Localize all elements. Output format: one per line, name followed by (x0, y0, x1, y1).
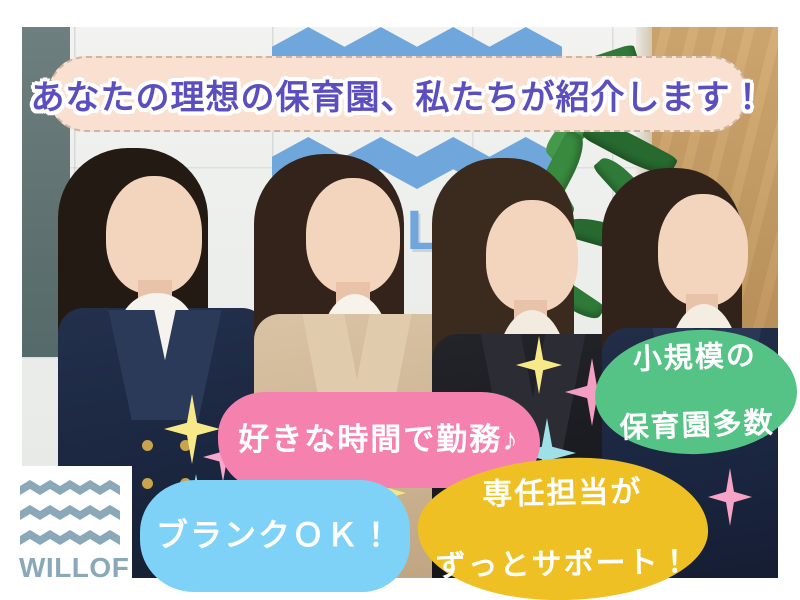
feature-bubble-small-nurseries-text: 小規模の保育園多数 (617, 338, 776, 446)
advertisement-banner: WILL (0, 0, 800, 600)
headline-text: あなたの理想の保育園、私たちが紹介します！ (31, 70, 766, 119)
brand-logo-card: WILLOF (8, 466, 132, 592)
feature-bubble-dedicated-support: 専任担当がずっとサポート！ (417, 455, 709, 600)
feature-bubble-flexible-hours-text: 好きな時間で勤務♪ (238, 422, 520, 459)
brand-wordmark: WILLOF (19, 552, 129, 584)
feature-bubble-career-gap-ok-text: ブランクＯＫ！ (156, 517, 394, 555)
headline-banner: あなたの理想の保育園、私たちが紹介します！ (48, 56, 748, 132)
willof-zigzag-icon (20, 480, 120, 546)
feature-bubble-career-gap-ok: ブランクＯＫ！ (140, 480, 410, 592)
feature-bubble-small-nurseries: 小規模の保育園多数 (593, 327, 799, 458)
feature-bubble-dedicated-support-text: 専任担当がずっとサポート！ (434, 474, 692, 585)
